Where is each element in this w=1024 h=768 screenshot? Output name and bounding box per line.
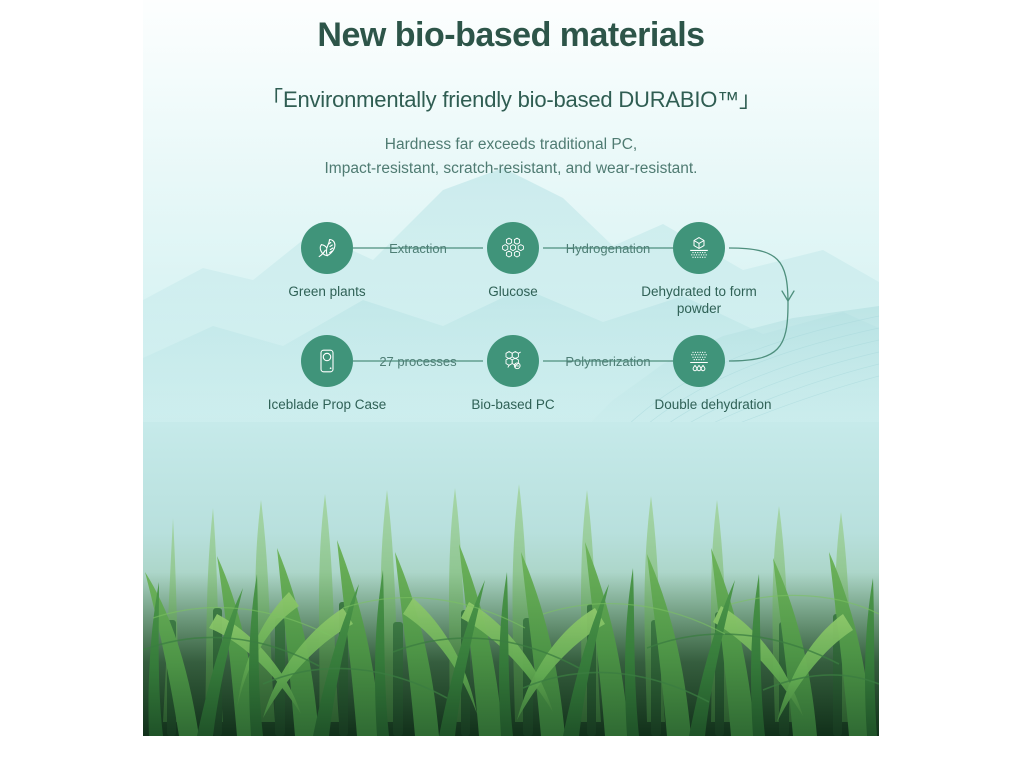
flow-label-bio-based-pc: Bio-based PC [453, 397, 573, 414]
powder-droplets-icon [685, 347, 713, 375]
corn-icon [313, 234, 341, 262]
phone-case-icon [313, 347, 341, 375]
svg-text:PC: PC [515, 364, 520, 368]
flow-edge-label-extraction: Extraction [358, 241, 478, 256]
flow-node-green-plants[interactable] [301, 222, 353, 274]
flow-label-iceblade-prop-case: Iceblade Prop Case [247, 397, 407, 414]
description-line-2: Impact-resistant, scratch-resistant, and… [143, 157, 879, 181]
flow-node-glucose[interactable] [487, 222, 539, 274]
flow-edge-label-27-processes: 27 processes [358, 354, 478, 369]
cube-powder-icon [685, 234, 713, 262]
page-title: New bio-based materials [143, 14, 879, 57]
flow-label-glucose: Glucose [453, 284, 573, 301]
flow-label-green-plants: Green plants [263, 284, 391, 301]
flow-edge-label-hydrogenation: Hydrogenation [538, 241, 678, 256]
molecule-cluster-icon [499, 234, 527, 262]
poster-canvas: New bio-based materials 「Environmentally… [0, 0, 1024, 768]
page-subtitle: 「Environmentally friendly bio-based DURA… [143, 82, 879, 114]
flow-node-double-dehydration[interactable] [673, 335, 725, 387]
flow-node-bio-based-pc[interactable]: PC [487, 335, 539, 387]
flow-label-dehydrated-powder: Dehydrated to form powder [639, 284, 759, 318]
sugarcane-illustration [143, 422, 879, 736]
poster-headings: New bio-based materials 「Environmentally… [143, 0, 879, 181]
flow-node-dehydrated-powder[interactable] [673, 222, 725, 274]
flow-edge-label-polymerization: Polymerization [538, 354, 678, 369]
pc-molecule-icon: PC [499, 347, 527, 375]
poster-card: New bio-based materials 「Environmentally… [143, 0, 879, 736]
process-flow-diagram: Green plants Glucose [143, 196, 879, 422]
page-description: Hardness far exceeds traditional PC, Imp… [143, 133, 879, 181]
description-line-1: Hardness far exceeds traditional PC, [143, 133, 879, 157]
sugarcane-field-photo [143, 422, 879, 736]
flow-label-double-dehydration: Double dehydration [629, 397, 797, 414]
flow-node-iceblade-prop-case[interactable] [301, 335, 353, 387]
